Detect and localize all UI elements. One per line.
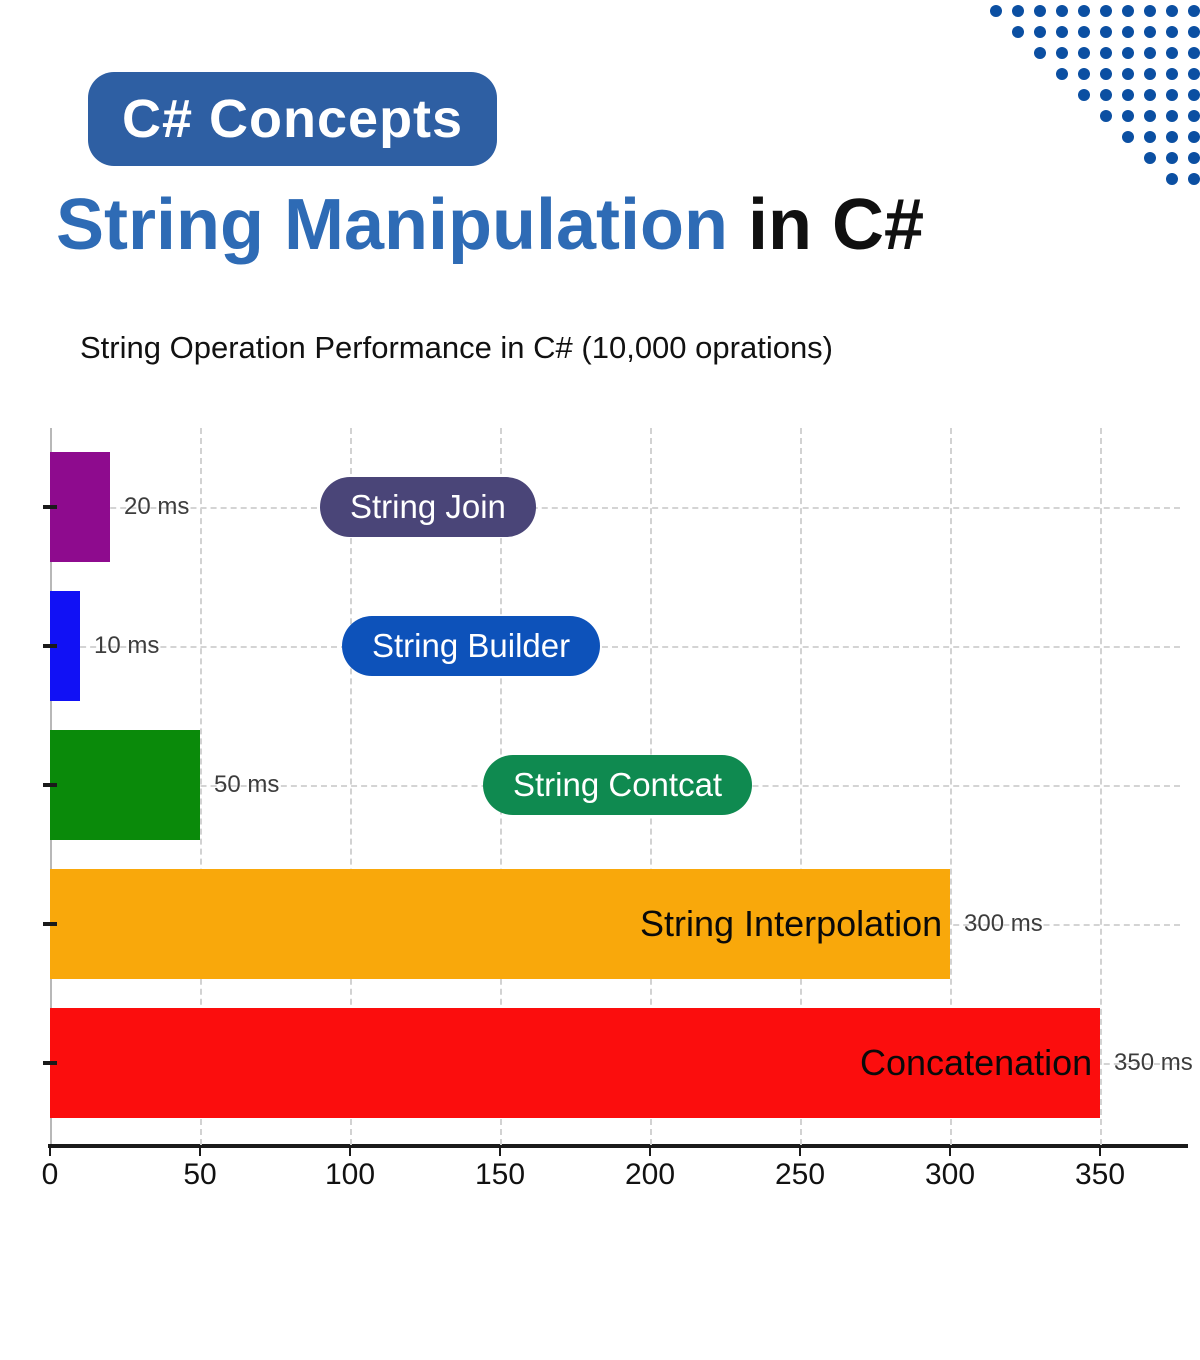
x-axis-tick-label: 50 — [183, 1158, 216, 1192]
bar-category-pill-1[interactable]: String Builder — [342, 616, 600, 676]
bar-0[interactable] — [50, 452, 110, 562]
x-axis-tick — [649, 1145, 651, 1156]
x-axis-line — [48, 1144, 1188, 1148]
dot-pattern-decoration — [960, 0, 1200, 190]
x-axis-tick — [349, 1145, 351, 1156]
x-axis-tick — [199, 1145, 201, 1156]
category-badge-label: C# Concepts — [122, 88, 463, 150]
x-axis-tick-label: 100 — [325, 1158, 375, 1192]
bar-category-label-4: Concatenation — [860, 1042, 1092, 1084]
bar-value-label-3: 300 ms — [964, 910, 1043, 938]
x-axis-tick-label: 150 — [475, 1158, 525, 1192]
x-axis-tick — [799, 1145, 801, 1156]
bar-value-label-2: 50 ms — [214, 771, 279, 799]
bar-category-label-3: String Interpolation — [640, 903, 942, 945]
bar-value-label-0: 20 ms — [124, 493, 189, 521]
x-axis-tick — [49, 1145, 51, 1156]
bar-2[interactable] — [50, 730, 200, 840]
x-axis-tick-label: 0 — [42, 1158, 59, 1192]
x-axis-tick — [1099, 1145, 1101, 1156]
page-title-accent: String Manipulation — [56, 185, 728, 265]
x-axis-tick-label: 200 — [625, 1158, 675, 1192]
y-axis-tick — [43, 922, 57, 926]
page-title-plain: in C# — [728, 185, 924, 265]
y-axis-tick — [43, 505, 57, 509]
gridline-horizontal — [50, 646, 1180, 648]
page-title: String Manipulation in C# — [56, 184, 924, 267]
gridline-horizontal — [50, 507, 1180, 509]
x-axis-tick-label: 300 — [925, 1158, 975, 1192]
bar-category-pill-0[interactable]: String Join — [320, 477, 536, 537]
bar-category-pill-2[interactable]: String Contcat — [483, 755, 752, 815]
chart-title: String Operation Performance in C# (10,0… — [80, 330, 833, 366]
bar-value-label-1: 10 ms — [94, 632, 159, 660]
y-axis-tick — [43, 644, 57, 648]
bar-value-label-4: 350 ms — [1114, 1049, 1193, 1077]
y-axis-tick — [43, 1061, 57, 1065]
x-axis-tick — [949, 1145, 951, 1156]
x-axis-tick — [499, 1145, 501, 1156]
y-axis-tick — [43, 783, 57, 787]
x-axis-tick-label: 350 — [1075, 1158, 1125, 1192]
category-badge: C# Concepts — [88, 72, 497, 166]
x-axis-tick-label: 250 — [775, 1158, 825, 1192]
